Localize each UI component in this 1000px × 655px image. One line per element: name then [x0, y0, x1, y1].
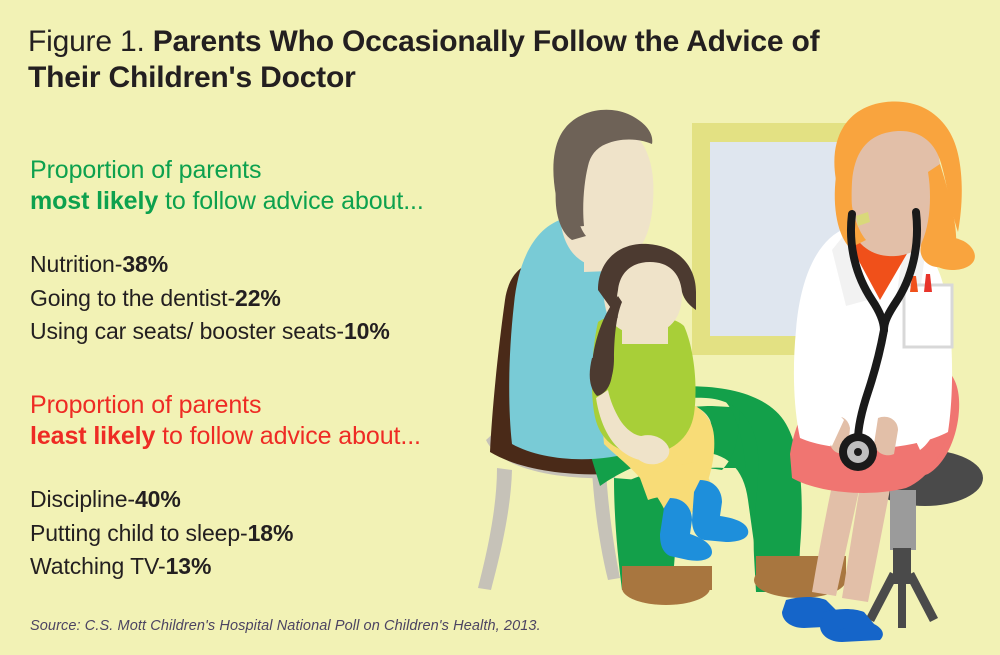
- stat-value: 40%: [135, 486, 181, 512]
- most-likely-list: Nutrition-38% Going to the dentist-22% U…: [30, 248, 590, 349]
- list-item: Using car seats/ booster seats-10%: [30, 315, 590, 349]
- list-item: Going to the dentist-22%: [30, 282, 590, 316]
- stat-label: Going to the dentist-: [30, 285, 235, 311]
- source-citation: Source: C.S. Mott Children's Hospital Na…: [30, 618, 541, 634]
- page-title: Figure 1. Parents Who Occasionally Follo…: [28, 24, 848, 96]
- least-likely-heading-tail: to follow advice about...: [155, 422, 421, 450]
- least-likely-list: Discipline-40% Putting child to sleep-18…: [30, 483, 590, 584]
- least-likely-emphasis: least likely: [30, 422, 155, 450]
- figure-label: Figure 1.: [28, 25, 145, 58]
- least-likely-heading-lead: Proportion of parents: [30, 391, 261, 419]
- list-item: Putting child to sleep-18%: [30, 517, 590, 551]
- list-item: Nutrition-38%: [30, 248, 590, 282]
- stat-value: 10%: [344, 318, 390, 344]
- stat-label: Putting child to sleep-: [30, 520, 248, 546]
- stat-label: Discipline-: [30, 486, 135, 512]
- stat-value: 18%: [248, 520, 294, 546]
- most-likely-emphasis: most likely: [30, 187, 158, 215]
- most-likely-heading: Proportion of parents most likely to fol…: [30, 155, 590, 217]
- stat-value: 22%: [235, 285, 281, 311]
- stat-label: Using car seats/ booster seats-: [30, 318, 344, 344]
- stat-value: 13%: [166, 553, 212, 579]
- stat-value: 38%: [122, 251, 168, 277]
- most-likely-heading-lead: Proportion of parents: [30, 156, 261, 184]
- figure-infographic: Figure 1. Parents Who Occasionally Follo…: [0, 0, 1000, 655]
- least-likely-heading: Proportion of parents least likely to fo…: [30, 390, 590, 452]
- figure-title: Parents Who Occasionally Follow the Advi…: [28, 25, 819, 94]
- list-item: Discipline-40%: [30, 483, 590, 517]
- stat-label: Nutrition-: [30, 251, 122, 277]
- most-likely-heading-tail: to follow advice about...: [158, 187, 424, 215]
- stat-label: Watching TV-: [30, 553, 166, 579]
- text-layer: Figure 1. Parents Who Occasionally Follo…: [0, 0, 1000, 655]
- list-item: Watching TV-13%: [30, 550, 590, 584]
